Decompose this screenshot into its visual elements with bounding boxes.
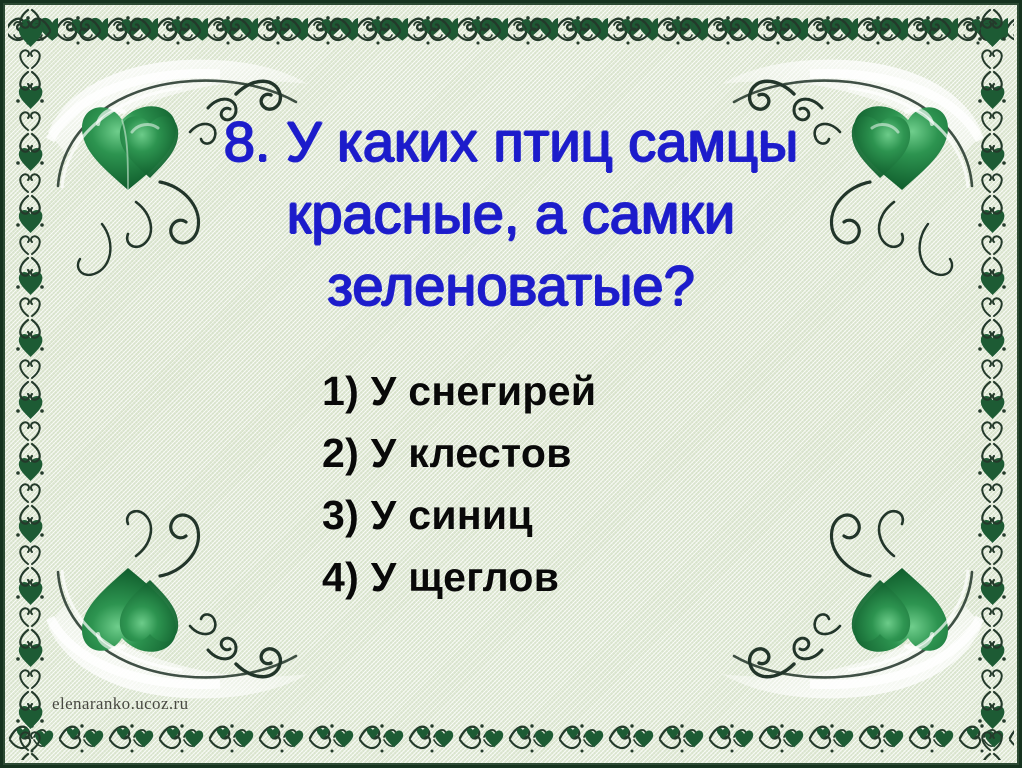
answer-option-1[interactable]: 1) У снегирей bbox=[322, 360, 882, 422]
quiz-slide: 8. У каких птиц самцы красные, а самки з… bbox=[0, 0, 1022, 768]
question-title: 8. У каких птиц самцы красные, а самки з… bbox=[60, 106, 962, 322]
slide-content: 8. У каких птиц самцы красные, а самки з… bbox=[0, 0, 1022, 768]
answer-options-list: 1) У снегирей 2) У клестов 3) У синиц 4)… bbox=[322, 360, 882, 608]
watermark-credit: elenaranko.ucoz.ru bbox=[52, 694, 189, 714]
answer-option-4[interactable]: 4) У щеглов bbox=[322, 546, 882, 608]
answer-option-2[interactable]: 2) У клестов bbox=[322, 422, 882, 484]
answer-option-3[interactable]: 3) У синиц bbox=[322, 484, 882, 546]
